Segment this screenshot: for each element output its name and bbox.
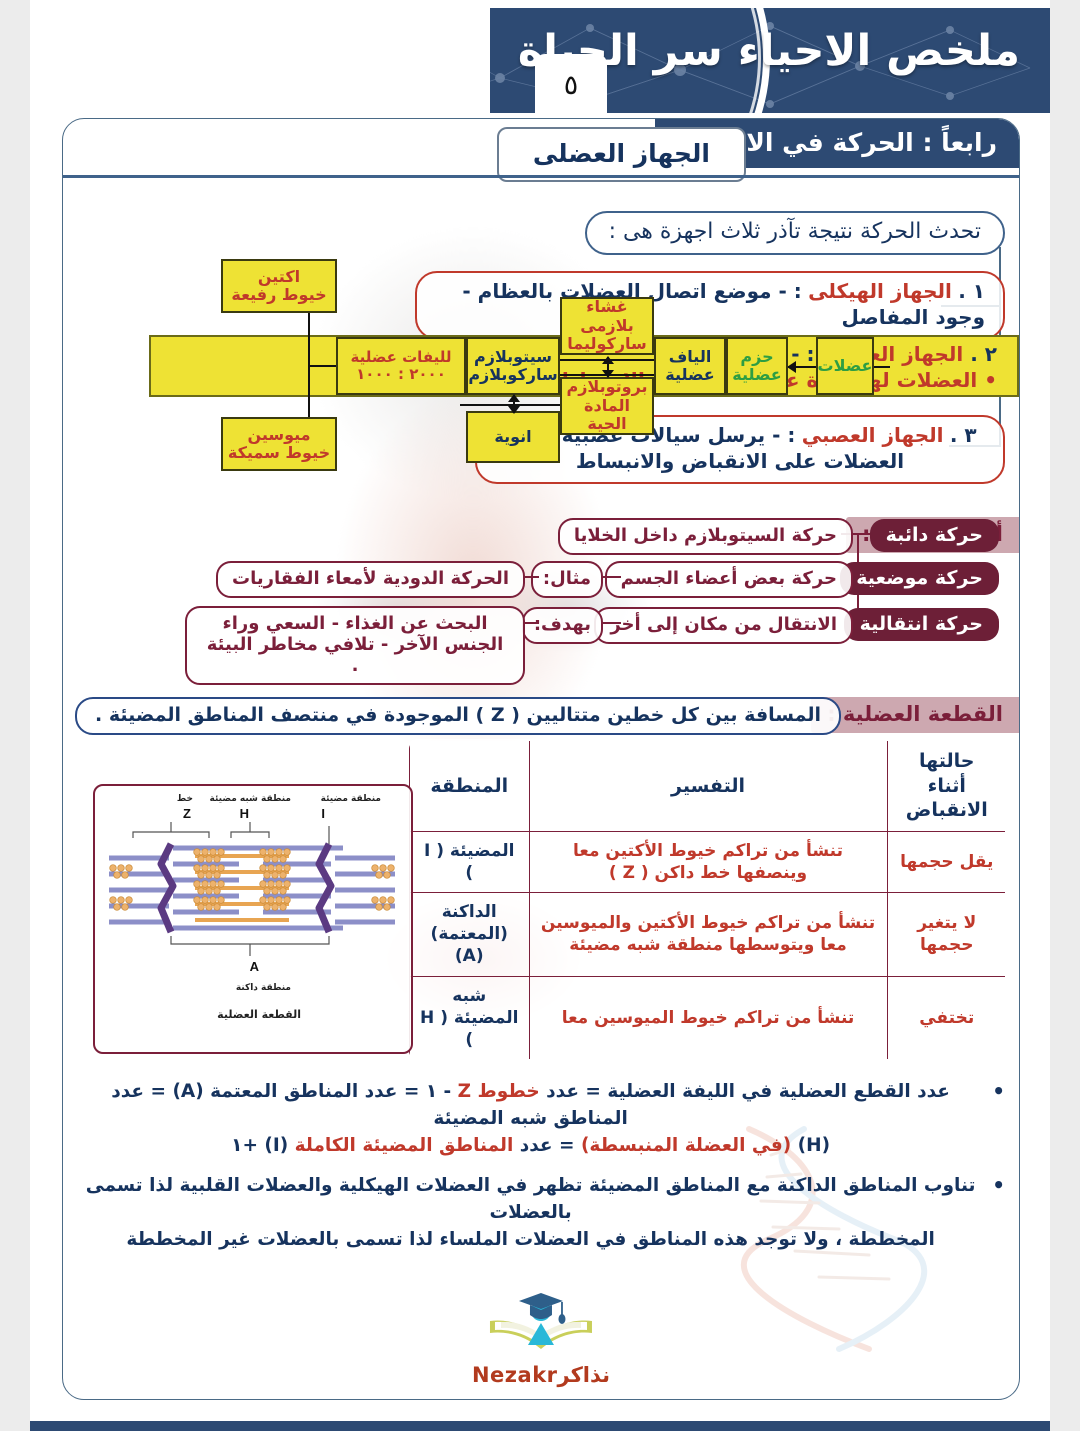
device-nervous-name: الجهاز العصبي	[802, 423, 944, 447]
left-gutter	[0, 0, 30, 1431]
bullet-item-2: • تناوب المناطق الداكنة مع المناطق المضي…	[77, 1173, 1005, 1253]
footer-bar	[30, 1421, 1050, 1431]
bullet-1-body: عدد القطع العضلية في الليفة العضلية = عد…	[77, 1079, 984, 1159]
header-explanation: التفسير	[529, 740, 887, 832]
table-row: يقل حجمها تنشأ من تراكم خيوط الأكتين معا…	[409, 832, 1007, 893]
flow-myofibrils-label-2: ٢٠٠٠ : ١٠٠٠	[356, 366, 446, 383]
movement-type-local: حركة موضعية	[840, 562, 999, 595]
header-state: حالتها أثناء الانقباض	[887, 740, 1007, 832]
page-root: ملخص الاحياء سر الحياة ٥ رابعاً : الحركة…	[0, 0, 1080, 1431]
sheet-header-strip: رابعاً : الحركة في الانسان الجهاز العضلى	[63, 119, 1019, 181]
fig-label-I-caption: منطقة مضيئة	[321, 794, 381, 804]
flow-box-protoplasm: بروتوبلازم المادة الحية	[560, 377, 654, 435]
cell-explanation-H: تنشأ من تراكم خيوط الميوسين معا	[529, 976, 887, 1060]
flow-bundles-label-1: حزم	[740, 348, 773, 366]
flow-box-fibers: الياف عضلية	[654, 337, 726, 395]
fig-label-A: A	[250, 959, 259, 974]
bullet-item-1: • عدد القطع العضلية في الليفة العضلية = …	[77, 1079, 1005, 1159]
header-banner: ملخص الاحياء سر الحياة ٥	[30, 8, 1050, 113]
bullet-2-line-1: تناوب المناطق الداكنة مع المناطق المضيئة…	[77, 1173, 984, 1227]
fig-label-I: I	[321, 806, 325, 821]
header-zone: المنطقة	[409, 740, 529, 832]
bullet-1-f: = عدد	[513, 1135, 581, 1156]
page-number-tab: ٥	[535, 54, 607, 113]
movement-detail-example: الحركة الدودية لأمعاء الفقاريات	[216, 561, 525, 598]
fig-label-A-caption: منطقة داكنة	[236, 983, 291, 993]
movement-type-perpetual: حركة دائبة	[870, 519, 999, 552]
device-skeletal: ١ . الجهاز الهيكلى : - موضع اتصال العضلا…	[415, 271, 1005, 340]
line-nuclei-connector	[460, 404, 560, 406]
mv-link-goal-detail	[525, 622, 539, 624]
flow-box-bundles: حزم عضلية	[726, 337, 788, 395]
flow-myofibrils-label-1: لليفات عضلية	[351, 349, 452, 366]
bullet-1-h: (I) +١	[231, 1135, 295, 1156]
brand-name: نذاكرNezakr	[472, 1363, 610, 1387]
movement-type-locomotive: حركة انتقالية	[844, 608, 999, 641]
section-title: الجهاز العضلى	[497, 127, 746, 182]
flow-box-cytoplasm: سيتوبلازم ساركوبلازم	[466, 337, 560, 395]
flow-membrane-label-2: ساركوليما	[567, 335, 647, 353]
device-muscular-number: ٢ .	[970, 342, 997, 366]
flow-cytoplasm-label-1: سيتوبلازم	[474, 348, 552, 366]
right-gutter	[1050, 0, 1080, 1431]
bullet-dot: •	[992, 1173, 1005, 1253]
flow-box-myofibrils: لليفات عضلية ٢٠٠٠ : ١٠٠٠	[336, 337, 466, 395]
header-rule	[63, 175, 1019, 178]
content-sheet: رابعاً : الحركة في الانسان الجهاز العضلى…	[62, 118, 1020, 1400]
cell-state-A: لا يتغير حجمها	[887, 893, 1007, 976]
table-header-row: حالتها أثناء الانقباض التفسير المنطقة	[409, 740, 1007, 832]
cell-state-H: تختفي	[887, 976, 1007, 1060]
flow-cytoplasm-label-2: ساركوبلازم	[468, 366, 557, 384]
bullet-1-b: خطوط Z	[458, 1081, 540, 1102]
sarcomere-table: حالتها أثناء الانقباض التفسير المنطقة يق…	[407, 739, 1007, 1061]
movement-desc-locomotive: الانتقال من مكان إلى أخر	[594, 607, 853, 644]
footer-logo: نذاكرNezakr	[472, 1283, 610, 1387]
bullet-1-a: عدد القطع العضلية في الليفة العضلية = عد…	[540, 1081, 950, 1102]
flow-box-nuclei: انوية	[466, 411, 560, 463]
flow-protoplasm-label-1: بروتوبلازم	[566, 378, 647, 396]
intro-statement: تحدث الحركة نتيجة تآذر ثلاث اجهزة هى :	[585, 211, 1005, 255]
movement-desc-perpetual: حركة السيتوبلازم داخل الخلايا	[558, 518, 853, 555]
sarcomere-definition: المسافة بين كل خطين متتاليين ( Z ) الموج…	[75, 697, 841, 735]
bullet-dot: •	[992, 1079, 1005, 1159]
line-membrane-sep-bottom	[560, 374, 654, 376]
fig-label-Z: Z	[183, 806, 191, 821]
flow-muscles-label: عضلات	[818, 357, 873, 375]
bullet-2-line-2: المخططة ، ولا توجد هذه المناطق في العضلا…	[77, 1227, 984, 1254]
bullet-1-e: (في العضلة المنبسطة)	[581, 1135, 791, 1156]
notes-bullets: • عدد القطع العضلية في الليفة العضلية = …	[77, 1079, 1005, 1268]
bullet-1-line-2: (H) (في العضلة المنبسطة) = عدد المناطق ا…	[77, 1133, 984, 1160]
bullet-1-line-1: عدد القطع العضلية في الليفة العضلية = عد…	[77, 1079, 984, 1133]
cell-explanation-I: تنشأ من تراكم خيوط الأكتين معا وينصفها خ…	[529, 832, 887, 893]
flow-box-muscles: عضلات	[816, 337, 874, 395]
cell-zone-I: المضيئة ( I )	[409, 832, 529, 893]
fig-caption: القطعة العضلية	[217, 1008, 301, 1021]
flow-box-plasma-membrane: غشاء بلازمى ساركوليما	[560, 297, 654, 355]
flow-bundles-label-2: عضلية	[732, 366, 781, 384]
banner-white-panel	[30, 8, 490, 113]
bullet-1-d: (H)	[791, 1135, 830, 1156]
flow-actin-label-2: خيوط رفيعة	[231, 286, 326, 304]
fig-label-H-caption: منطقة شبه مضيئة	[210, 794, 291, 804]
flow-protoplasm-label-2: المادة الحية	[562, 397, 652, 434]
nezakr-graduation-book-icon	[476, 1283, 606, 1357]
movement-tag-goal: بهدف:	[522, 607, 603, 644]
mv-link-example	[603, 576, 621, 578]
device-skeletal-name: الجهاز الهيكلى	[808, 279, 952, 303]
line-membrane-sep-top	[560, 359, 654, 361]
flow-fibers-label-2: عضلية	[665, 366, 714, 384]
movement-detail-goal: البحث عن الغذاء - السعي وراء الجنس الآخر…	[185, 606, 525, 685]
table-row: تختفي تنشأ من تراكم خيوط الميوسين معا شب…	[409, 976, 1007, 1060]
flow-myosin-label-2: خيوط سميكة	[228, 444, 330, 462]
movement-tag-example: مثال:	[531, 561, 603, 598]
flow-actin-label-1: اكتين	[258, 268, 300, 286]
bullet-1-g: المناطق المضيئة الكاملة	[295, 1135, 514, 1156]
cell-zone-A: الداكنة (المعتمة) (A)	[409, 893, 529, 976]
mv-link-1	[857, 533, 867, 535]
bullet-2-body: تناوب المناطق الداكنة مع المناطق المضيئة…	[77, 1173, 984, 1253]
device-skeletal-number: ١ .	[958, 279, 985, 303]
flow-myosin-label-1: ميوسين	[247, 426, 310, 444]
flow-fibers-label-1: الياف	[669, 348, 712, 366]
mv-link-example-detail	[525, 576, 539, 578]
flow-box-myosin: ميوسين خيوط سميكة	[221, 417, 337, 471]
fig-label-Z-caption: خط	[177, 794, 193, 804]
flow-membrane-label-1: غشاء بلازمى	[562, 298, 652, 335]
mv-link-goal	[603, 622, 621, 624]
flow-box-actin: اكتين خيوط رفيعة	[221, 259, 337, 313]
movement-desc-local: حركة بعض أعضاء الجسم	[605, 561, 853, 598]
line-myofibrils-split	[308, 365, 336, 367]
sarcomere-label: القطعة العضلية :	[811, 697, 1019, 733]
device-nervous-number: ٣ .	[950, 423, 977, 447]
sarcomere-figure: منطقة مضيئة I منطقة شبه مضيئة H خط Z A م…	[93, 784, 413, 1054]
cell-state-I: يقل حجمها	[887, 832, 1007, 893]
fig-label-H: H	[240, 806, 249, 821]
arrow-bundles-to-fibers	[788, 366, 816, 368]
flow-nuclei-label: انوية	[494, 428, 531, 446]
cell-zone-H: شبه المضيئة ( H )	[409, 976, 529, 1060]
cell-explanation-A: تنشأ من تراكم خيوط الأكتين والميوسين معا…	[529, 893, 887, 976]
table-row: لا يتغير حجمها تنشأ من تراكم خيوط الأكتي…	[409, 893, 1007, 976]
